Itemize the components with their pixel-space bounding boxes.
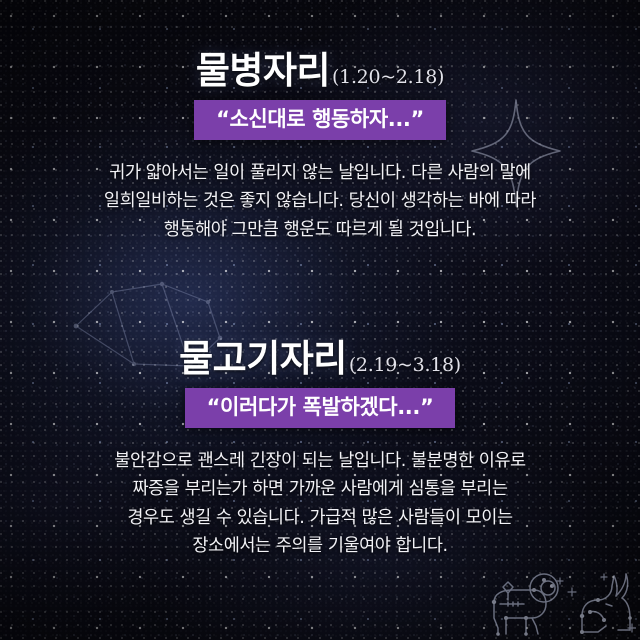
horoscope-card: 물병자리 (1.20~2.18) “소신대로 행동하자...” 귀가 얇아서는 …	[0, 0, 640, 640]
card-content: 물병자리 (1.20~2.18) “소신대로 행동하자...” 귀가 얇아서는 …	[0, 0, 640, 640]
body-line: 귀가 얇아서는 일이 풀리지 않는 날입니다. 다른 사람의 말에	[36, 159, 604, 187]
section-aquarius: 물병자리 (1.20~2.18) “소신대로 행동하자...” 귀가 얇아서는 …	[0, 52, 640, 244]
body-line: 장소에서는 주의를 기울여야 합니다.	[36, 532, 604, 560]
sign-dates-pisces: (2.19~3.18)	[349, 356, 461, 375]
badge-wrap-pisces: “이러다가 폭발하겠다...”	[0, 388, 640, 428]
body-line: 일희일비하는 것은 좋지 않습니다. 당신이 생각하는 바에 따라	[36, 187, 604, 215]
sign-dates-aquarius: (1.20~2.18)	[332, 68, 444, 87]
body-line: 행동해야 그만큼 행운도 따르게 될 것입니다.	[36, 216, 604, 244]
badge-aquarius: “소신대로 행동하자...”	[194, 100, 446, 140]
body-line: 불안감으로 괜스레 긴장이 되는 날입니다. 불분명한 이유로	[36, 447, 604, 475]
badge-wrap-aquarius: “소신대로 행동하자...”	[0, 100, 640, 140]
badge-pisces: “이러다가 폭발하겠다...”	[185, 388, 456, 428]
heading-aquarius: 물병자리 (1.20~2.18)	[0, 52, 640, 89]
section-pisces: 물고기자리 (2.19~3.18) “이러다가 폭발하겠다...” 불안감으로 …	[0, 340, 640, 561]
heading-pisces: 물고기자리 (2.19~3.18)	[0, 340, 640, 377]
body-text-aquarius: 귀가 얇아서는 일이 풀리지 않는 날입니다. 다른 사람의 말에 일희일비하는…	[0, 159, 640, 244]
body-line: 경우도 생길 수 있습니다. 가급적 많은 사람들이 모이는	[36, 504, 604, 532]
body-text-pisces: 불안감으로 괜스레 긴장이 되는 날입니다. 불분명한 이유로 짜증을 부리는가…	[0, 447, 640, 560]
sign-name-pisces: 물고기자리	[179, 340, 347, 377]
body-line: 짜증을 부리는가 하면 가까운 사람에게 심통을 부리는	[36, 475, 604, 503]
sign-name-aquarius: 물병자리	[196, 52, 330, 89]
